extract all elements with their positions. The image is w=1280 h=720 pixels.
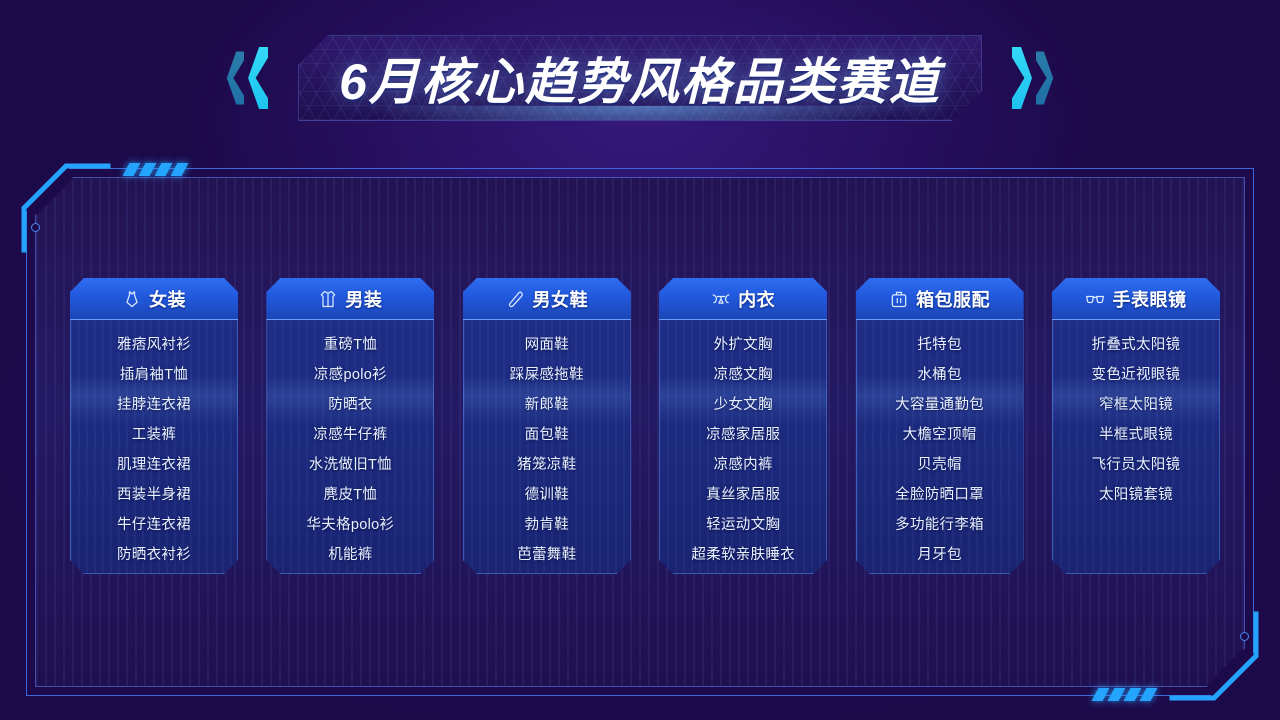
category-item[interactable]: 轻运动文胸	[663, 510, 823, 540]
category-item[interactable]: 水桶包	[860, 360, 1020, 390]
category-item[interactable]: 凉感文胸	[663, 360, 823, 390]
glasses-icon	[1085, 289, 1105, 309]
decor-stripes-bottom-right	[1095, 688, 1154, 701]
category-card-title: 内衣	[738, 286, 775, 312]
double-chevron-right-icon	[998, 47, 1056, 109]
category-item[interactable]: 新郎鞋	[467, 390, 627, 420]
decor-stripes-top-left	[126, 163, 185, 176]
category-item-list: 折叠式太阳镜变色近视眼镜窄框太阳镜半框式眼镜飞行员太阳镜太阳镜套镜	[1052, 320, 1220, 522]
shoe-icon	[506, 289, 526, 309]
category-item[interactable]: 月牙包	[860, 540, 1020, 570]
category-card-header: 男装	[266, 278, 434, 320]
category-item[interactable]: 飞行员太阳镜	[1056, 450, 1216, 480]
category-item-list: 网面鞋踩屎感拖鞋新郎鞋面包鞋猪笼凉鞋德训鞋勃肯鞋芭蕾舞鞋	[463, 320, 631, 582]
category-card[interactable]: 男装重磅T恤凉感polo衫防晒衣凉感牛仔裤水洗做旧T恤麂皮T恤华夫格polo衫机…	[266, 278, 434, 574]
corner-bracket-top-left-icon	[22, 164, 108, 250]
category-item[interactable]: 牛仔连衣裙	[74, 510, 234, 540]
title-plate: 6月核心趋势风格品类赛道	[298, 35, 982, 121]
category-card-title: 男装	[345, 286, 382, 312]
category-card[interactable]: 手表眼镜折叠式太阳镜变色近视眼镜窄框太阳镜半框式眼镜飞行员太阳镜太阳镜套镜	[1052, 278, 1220, 574]
category-item[interactable]: 凉感polo衫	[270, 360, 430, 390]
category-item[interactable]: 雅痞风衬衫	[74, 330, 234, 360]
category-item[interactable]: 工装裤	[74, 420, 234, 450]
dress-icon	[122, 289, 142, 309]
category-item-list: 重磅T恤凉感polo衫防晒衣凉感牛仔裤水洗做旧T恤麂皮T恤华夫格polo衫机能裤	[266, 320, 434, 582]
category-item[interactable]: 真丝家居服	[663, 480, 823, 510]
category-item-list: 外扩文胸凉感文胸少女文胸凉感家居服凉感内裤真丝家居服轻运动文胸超柔软亲肤睡衣	[659, 320, 827, 582]
bra-icon	[711, 289, 731, 309]
category-item[interactable]: 德训鞋	[467, 480, 627, 510]
category-item[interactable]: 贝壳帽	[860, 450, 1020, 480]
category-item[interactable]: 凉感内裤	[663, 450, 823, 480]
category-item[interactable]: 华夫格polo衫	[270, 510, 430, 540]
jacket-icon	[318, 289, 338, 309]
category-item[interactable]: 大容量通勤包	[860, 390, 1020, 420]
page-title: 6月核心趋势风格品类赛道	[339, 42, 941, 114]
category-item[interactable]: 凉感牛仔裤	[270, 420, 430, 450]
double-chevron-left-icon	[224, 47, 282, 109]
category-card[interactable]: 内衣外扩文胸凉感文胸少女文胸凉感家居服凉感内裤真丝家居服轻运动文胸超柔软亲肤睡衣	[659, 278, 827, 574]
category-item[interactable]: 猪笼凉鞋	[467, 450, 627, 480]
node-dot-bottom-right-icon	[1240, 632, 1249, 641]
category-item[interactable]: 多功能行李箱	[860, 510, 1020, 540]
category-item[interactable]: 大檐空顶帽	[860, 420, 1020, 450]
node-dot-top-left-icon	[31, 223, 40, 232]
category-item[interactable]: 西装半身裙	[74, 480, 234, 510]
category-card[interactable]: 女装雅痞风衬衫插肩袖T恤挂脖连衣裙工装裤肌理连衣裙西装半身裙牛仔连衣裙防晒衣衬衫	[70, 278, 238, 574]
category-card-header: 女装	[70, 278, 238, 320]
category-item[interactable]: 凉感家居服	[663, 420, 823, 450]
category-item[interactable]: 半框式眼镜	[1056, 420, 1216, 450]
category-card-header: 男女鞋	[463, 278, 631, 320]
suitcase-icon	[889, 289, 909, 309]
category-card[interactable]: 箱包服配托特包水桶包大容量通勤包大檐空顶帽贝壳帽全脸防晒口罩多功能行李箱月牙包	[856, 278, 1024, 574]
category-card-header: 箱包服配	[856, 278, 1024, 320]
category-item[interactable]: 勃肯鞋	[467, 510, 627, 540]
category-card-title: 手表眼镜	[1112, 286, 1186, 312]
category-item[interactable]: 防晒衣衬衫	[74, 540, 234, 570]
category-item-list: 托特包水桶包大容量通勤包大檐空顶帽贝壳帽全脸防晒口罩多功能行李箱月牙包	[856, 320, 1024, 582]
category-item[interactable]: 肌理连衣裙	[74, 450, 234, 480]
category-item[interactable]: 外扩文胸	[663, 330, 823, 360]
category-card-title: 女装	[149, 286, 186, 312]
category-item[interactable]: 变色近视眼镜	[1056, 360, 1216, 390]
category-item[interactable]: 踩屎感拖鞋	[467, 360, 627, 390]
category-grid: 女装雅痞风衬衫插肩袖T恤挂脖连衣裙工装裤肌理连衣裙西装半身裙牛仔连衣裙防晒衣衬衫…	[70, 278, 1220, 574]
category-item[interactable]: 机能裤	[270, 540, 430, 570]
corner-bracket-bottom-right-icon	[1172, 614, 1258, 700]
category-item[interactable]: 全脸防晒口罩	[860, 480, 1020, 510]
category-item[interactable]: 面包鞋	[467, 420, 627, 450]
category-item[interactable]: 水洗做旧T恤	[270, 450, 430, 480]
category-item[interactable]: 网面鞋	[467, 330, 627, 360]
category-item[interactable]: 窄框太阳镜	[1056, 390, 1216, 420]
category-item[interactable]: 挂脖连衣裙	[74, 390, 234, 420]
category-item[interactable]: 芭蕾舞鞋	[467, 540, 627, 570]
category-card-header: 内衣	[659, 278, 827, 320]
category-item[interactable]: 麂皮T恤	[270, 480, 430, 510]
category-item[interactable]: 托特包	[860, 330, 1020, 360]
category-item[interactable]: 折叠式太阳镜	[1056, 330, 1216, 360]
category-card[interactable]: 男女鞋网面鞋踩屎感拖鞋新郎鞋面包鞋猪笼凉鞋德训鞋勃肯鞋芭蕾舞鞋	[463, 278, 631, 574]
category-item[interactable]: 少女文胸	[663, 390, 823, 420]
category-item[interactable]: 超柔软亲肤睡衣	[663, 540, 823, 570]
category-item[interactable]: 重磅T恤	[270, 330, 430, 360]
category-item[interactable]: 插肩袖T恤	[74, 360, 234, 390]
category-item[interactable]: 太阳镜套镜	[1056, 480, 1216, 510]
page-header: 6月核心趋势风格品类赛道	[0, 18, 1280, 138]
category-card-title: 男女鞋	[533, 286, 589, 312]
category-item[interactable]: 防晒衣	[270, 390, 430, 420]
category-card-title: 箱包服配	[916, 286, 990, 312]
category-item-list: 雅痞风衬衫插肩袖T恤挂脖连衣裙工装裤肌理连衣裙西装半身裙牛仔连衣裙防晒衣衬衫	[70, 320, 238, 582]
category-card-header: 手表眼镜	[1052, 278, 1220, 320]
